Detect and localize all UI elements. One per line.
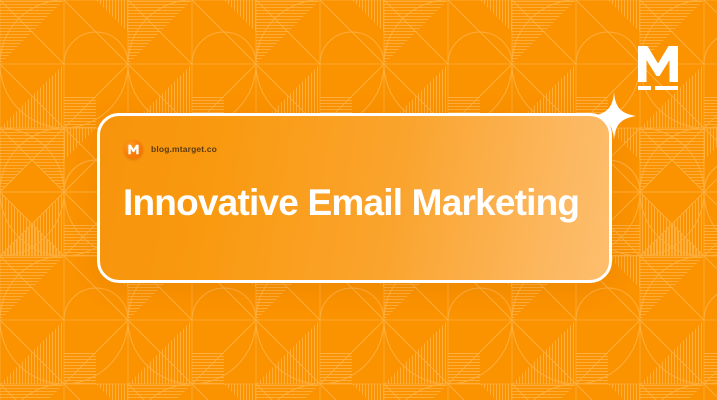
source-url-label: blog.mtarget.co	[151, 145, 217, 154]
mtarget-m-logo-icon	[634, 42, 682, 94]
page-title: Innovative Email Marketing	[123, 182, 593, 223]
hero-card-content: blog.mtarget.co Innovative Email Marketi…	[100, 116, 609, 280]
poster-canvas: blog.mtarget.co Innovative Email Marketi…	[0, 0, 717, 400]
mtarget-badge-icon	[124, 140, 143, 159]
source-row: blog.mtarget.co	[124, 139, 609, 159]
hero-card: blog.mtarget.co Innovative Email Marketi…	[97, 113, 612, 283]
